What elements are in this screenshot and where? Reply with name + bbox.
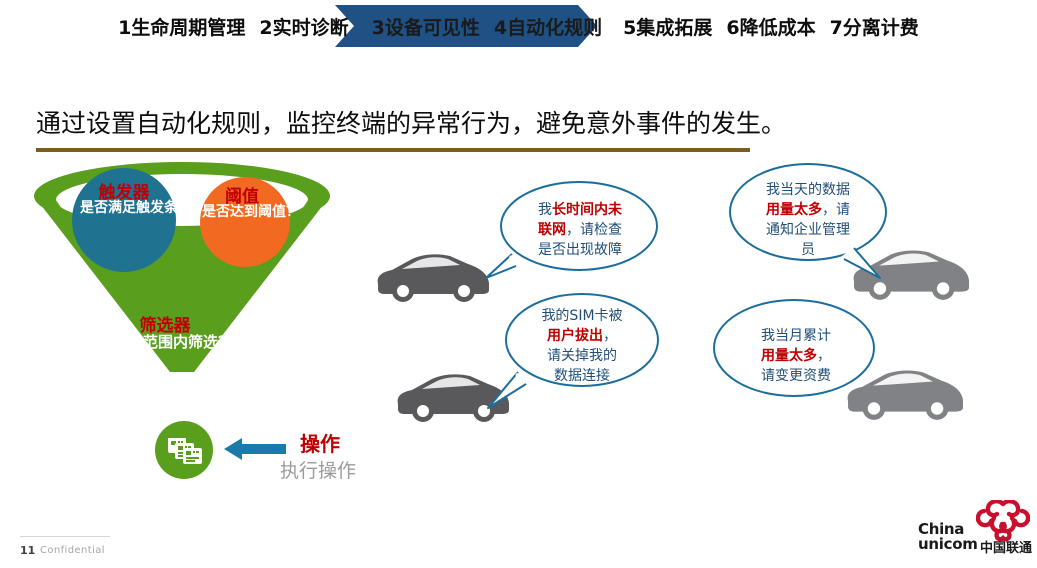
bubble-monthly-data[interactable]: 我当月累计用量太多，请变更资费 — [702, 294, 888, 414]
car-dark-left-top — [372, 250, 494, 306]
trigger-circle — [72, 168, 176, 272]
sim-cards-icon — [155, 421, 213, 479]
nav-item-6[interactable]: 6降低成本 — [719, 0, 822, 56]
slide-canvas: 1生命周期管理 2实时诊断 3设备可见性 4自动化规则 5集成拓展 6降低成本 … — [0, 0, 1037, 568]
bubble-sim-removed[interactable]: 我的SIM卡被用户拔出，请关掉我的数据连接 — [484, 288, 668, 420]
page-title: 通过设置自动化规则，监控终端的异常行为，避免意外事件的发生。 — [36, 104, 786, 140]
china-unicom-logo: China unicom 中国联通 — [918, 500, 1030, 556]
left-arrow-icon — [224, 437, 286, 461]
nav-item-2[interactable]: 2实时诊断 — [252, 0, 355, 56]
nav-item-5[interactable]: 5集成拓展 — [616, 0, 719, 56]
bubble-sim-removed-text: 我的SIM卡被用户拔出，请关掉我的数据连接 — [512, 306, 652, 386]
footer-divider — [20, 536, 110, 537]
logo-wordmark: China unicom — [918, 522, 978, 552]
threshold-circle — [200, 177, 290, 267]
confidential-label: Confidential — [40, 545, 105, 556]
funnel-shape — [22, 160, 342, 380]
unicom-knot-icon — [976, 500, 1030, 542]
logo-chinese-name: 中国联通 — [980, 537, 1032, 556]
nav-item-1[interactable]: 1生命周期管理 — [111, 0, 252, 56]
title-divider — [36, 148, 750, 152]
action-title: 操作 — [300, 428, 340, 457]
logo-line-2: unicom — [918, 537, 978, 552]
nav-item-list: 1生命周期管理 2实时诊断 3设备可见性 4自动化规则 5集成拓展 6降低成本 … — [0, 0, 1037, 56]
nav-item-7[interactable]: 7分离计费 — [823, 0, 926, 56]
action-subtitle: 执行操作 — [280, 456, 356, 483]
bubble-offline[interactable]: 我长时间内未联网，请检查是否出现故障 — [484, 178, 664, 292]
page-number: 11 — [20, 544, 35, 557]
action-icon-badge[interactable] — [155, 421, 213, 479]
nav-item-4[interactable]: 4自动化规则 — [487, 0, 616, 56]
bubble-monthly-data-text: 我当月累计用量太多，请变更资费 — [726, 326, 866, 386]
funnel-diagram — [22, 160, 342, 380]
bubble-daily-data[interactable]: 我当天的数据用量太多，请通知企业管理员 — [718, 158, 902, 290]
bubble-offline-text: 我长时间内未联网，请检查是否出现故障 — [510, 200, 650, 260]
bubble-daily-data-text: 我当天的数据用量太多，请通知企业管理员 — [738, 180, 878, 260]
top-nav-strip: 1生命周期管理 2实时诊断 3设备可见性 4自动化规则 5集成拓展 6降低成本 … — [0, 0, 1037, 56]
nav-item-3[interactable]: 3设备可见性 — [356, 0, 487, 56]
